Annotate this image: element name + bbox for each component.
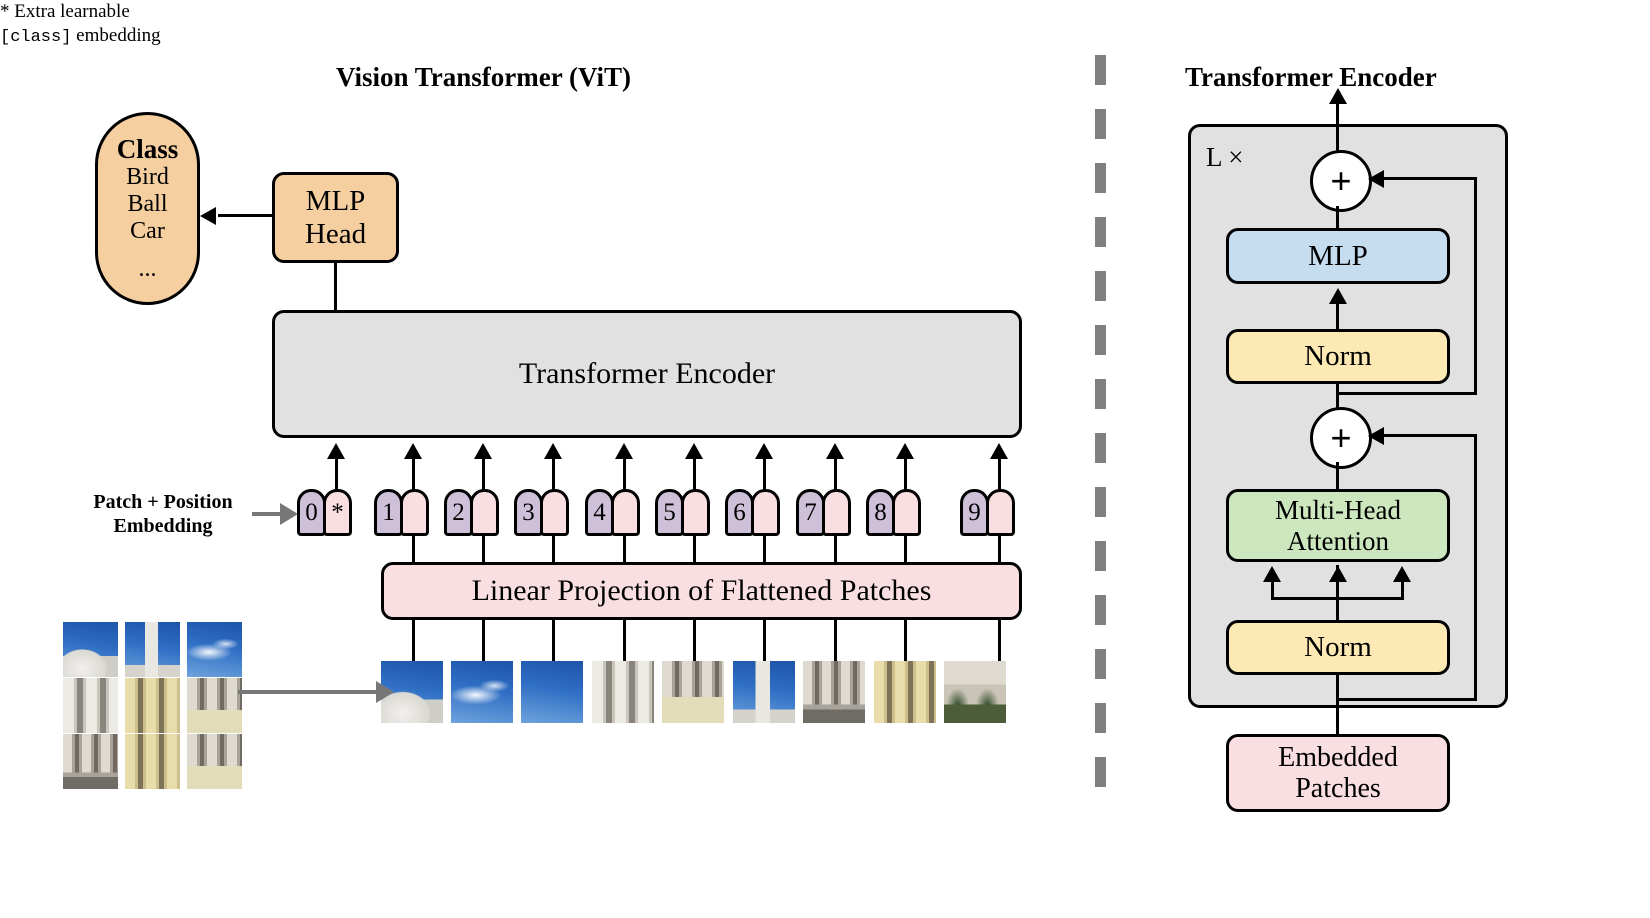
token-position-8: 8 [866, 489, 895, 536]
arrow-line-mlp-to-class [218, 214, 274, 217]
class-heading: Class [117, 134, 179, 164]
residual-skip-top-top [1384, 177, 1477, 180]
source-image-patch-6 [187, 678, 242, 733]
patch-stem-8 [904, 618, 907, 664]
transformer-encoder-block: Transformer Encoder [272, 310, 1022, 438]
token-arrow-head-1 [404, 443, 422, 459]
footnote-mono-token: [class] [0, 28, 71, 47]
token-stem-2 [482, 534, 485, 564]
norm-bottom-block: Norm [1226, 620, 1450, 675]
flattened-patch-2 [451, 661, 513, 723]
token-pill-4: 4 [585, 489, 641, 536]
norm-bottom-label: Norm [1304, 631, 1372, 663]
mlp-block: MLP [1226, 228, 1450, 284]
pp-line1: Patch + Position [93, 491, 232, 513]
token-arrow-head-4 [615, 443, 633, 459]
patch-stem-7 [834, 618, 837, 664]
pp-line2: Embedding [114, 515, 213, 537]
mlp-label: MLP [1308, 240, 1368, 272]
mha-line2: Attention [1287, 526, 1389, 556]
flattened-patch-7 [803, 661, 865, 723]
qkv-right-arrow [1393, 566, 1411, 582]
token-patch-4 [611, 489, 640, 536]
token-pill-7: 7 [796, 489, 852, 536]
token-pill-5: 5 [655, 489, 711, 536]
token-stem-8 [904, 534, 907, 564]
footnote-star: * [0, 1, 10, 22]
arrow-norm-top-to-mlp [1329, 288, 1347, 304]
token-arrow-head-7 [826, 443, 844, 459]
patch-stem-4 [623, 618, 626, 664]
plus-symbol-top: + [1330, 163, 1351, 199]
token-arrow-line-3 [552, 455, 555, 491]
residual-skip-top-vertical [1474, 180, 1477, 394]
linear-projection-block: Linear Projection of Flattened Patches [381, 562, 1022, 620]
token-arrow-head-0 [327, 443, 345, 459]
class-ellipsis: ... [139, 256, 157, 283]
patch-stem-6 [763, 618, 766, 664]
source-image-patch-9 [187, 734, 242, 789]
token-arrow-line-1 [412, 455, 415, 491]
token-stem-3 [552, 534, 555, 564]
mlp-head-line1: MLP [306, 185, 366, 217]
token-stem-6 [763, 534, 766, 564]
qkv-source-stem [1336, 596, 1339, 622]
figure-canvas: Vision Transformer (ViT) Transformer Enc… [0, 0, 1650, 918]
token-position-7: 7 [796, 489, 825, 536]
token-position-3: 3 [514, 489, 543, 536]
flattened-patch-6 [733, 661, 795, 723]
source-image-patch-8 [125, 734, 180, 789]
token-arrow-line-6 [763, 455, 766, 491]
token-patch-1 [400, 489, 429, 536]
source-image-patch-1 [63, 622, 118, 677]
plus-symbol-bottom: + [1330, 420, 1351, 456]
token-pill-6: 6 [725, 489, 781, 536]
flattened-patch-5 [662, 661, 724, 723]
embedded-patches-block: Embedded Patches [1226, 734, 1450, 812]
token-patch-7 [822, 489, 851, 536]
token-arrow-head-9 [990, 443, 1008, 459]
token-arrow-line-9 [998, 455, 1001, 491]
token-arrow-line-8 [904, 455, 907, 491]
token-pill-9: 9 [960, 489, 1016, 536]
patch-stem-9 [998, 618, 1001, 664]
token-patch-2 [470, 489, 499, 536]
linear-projection-label: Linear Projection of Flattened Patches [472, 574, 932, 608]
residual-add-top: + [1310, 150, 1372, 212]
token-pill-1: 1 [374, 489, 430, 536]
token-pill-2: 2 [444, 489, 500, 536]
token-arrow-head-3 [544, 443, 562, 459]
token-arrow-head-5 [685, 443, 703, 459]
class-output-pill: Class Bird Ball Car ... [95, 112, 200, 305]
panel-divider [1095, 55, 1106, 800]
class-item-ball: Ball [128, 191, 168, 218]
token-arrow-line-0 [335, 455, 338, 491]
embedded-line1: Embedded [1278, 742, 1398, 773]
grey-arrow-line-grid-to-strip [238, 690, 378, 694]
class-embedding-footnote: * Extra learnable [class] embedding [0, 0, 215, 48]
flattened-patch-3 [521, 661, 583, 723]
residual-add-bottom: + [1310, 407, 1372, 469]
multi-head-attention-block: Multi-Head Attention [1226, 489, 1450, 562]
line-mha-to-plus [1336, 462, 1339, 492]
norm-top-label: Norm [1304, 340, 1372, 372]
residual-skip-bottom-top [1384, 434, 1477, 437]
token-arrow-head-2 [474, 443, 492, 459]
encoder-output-arrow [1329, 88, 1347, 104]
source-image-patch-3 [187, 622, 242, 677]
residual-skip-bottom-arrowhead [1368, 427, 1384, 445]
source-image-patch-7 [63, 734, 118, 789]
token-patch-5 [681, 489, 710, 536]
page-title-vit: Vision Transformer (ViT) [336, 62, 631, 93]
class-item-car: Car [130, 218, 165, 245]
footnote-text-before: Extra learnable [10, 1, 130, 22]
token-patch-8 [892, 489, 921, 536]
token-patch-6 [751, 489, 780, 536]
token-arrow-line-2 [482, 455, 485, 491]
flattened-patch-8 [874, 661, 936, 723]
norm-top-block: Norm [1226, 329, 1450, 384]
residual-skip-bottom-bottom [1336, 698, 1477, 701]
token-arrow-line-4 [623, 455, 626, 491]
qkv-left-arrow [1263, 566, 1281, 582]
token-patch-0: * [323, 489, 352, 536]
qkv-mid-arrow [1329, 566, 1347, 582]
patch-position-embedding-label: Patch + Position Embedding [78, 490, 248, 538]
source-image-patch-5 [125, 678, 180, 733]
token-position-6: 6 [725, 489, 754, 536]
token-position-5: 5 [655, 489, 684, 536]
token-stem-1 [412, 534, 415, 564]
token-stem-4 [623, 534, 626, 564]
grey-arrow-head-to-tokens [280, 503, 298, 525]
token-position-0: 0 [297, 489, 326, 536]
class-item-bird: Bird [126, 164, 169, 191]
patch-stem-5 [693, 618, 696, 664]
source-image-patch-2 [125, 622, 180, 677]
patch-stem-2 [482, 618, 485, 664]
patch-stem-3 [552, 618, 555, 664]
grey-arrow-line-to-tokens [252, 512, 282, 516]
residual-skip-top-arrowhead [1368, 170, 1384, 188]
embedded-line2: Patches [1295, 773, 1381, 804]
token-patch-9 [986, 489, 1015, 536]
arrow-head-mlp-to-class [200, 207, 216, 225]
encoder-repeat-label: L × [1206, 142, 1243, 173]
token-arrow-line-7 [834, 455, 837, 491]
connector-mlphead-encoder [334, 262, 337, 312]
mha-line1: Multi-Head [1275, 495, 1401, 525]
token-arrow-line-5 [693, 455, 696, 491]
token-pill-3: 3 [514, 489, 570, 536]
token-pill-8: 8 [866, 489, 922, 536]
flattened-patch-4 [592, 661, 654, 723]
flattened-patch-9 [944, 661, 1006, 723]
page-title-transformer-encoder: Transformer Encoder [1185, 62, 1437, 93]
footnote-text-after: embedding [71, 25, 160, 46]
token-position-2: 2 [444, 489, 473, 536]
token-stem-7 [834, 534, 837, 564]
token-arrow-head-6 [755, 443, 773, 459]
token-stem-9 [998, 534, 1001, 564]
source-image-patch-4 [63, 678, 118, 733]
mlp-head-block: MLP Head [272, 172, 399, 263]
token-position-1: 1 [374, 489, 403, 536]
mlp-head-line2: Head [305, 218, 366, 250]
token-position-4: 4 [585, 489, 614, 536]
token-patch-3 [540, 489, 569, 536]
transformer-encoder-label: Transformer Encoder [519, 357, 775, 391]
token-position-9: 9 [960, 489, 989, 536]
grey-arrow-head-grid-to-strip [376, 681, 394, 703]
token-stem-5 [693, 534, 696, 564]
token-arrow-head-8 [896, 443, 914, 459]
patch-stem-1 [412, 618, 415, 664]
line-embedded-to-norm-bottom [1336, 673, 1339, 736]
token-pill-0: 0* [297, 489, 353, 536]
residual-skip-top-bottom [1336, 392, 1477, 395]
residual-skip-bottom-vertical [1474, 437, 1477, 700]
